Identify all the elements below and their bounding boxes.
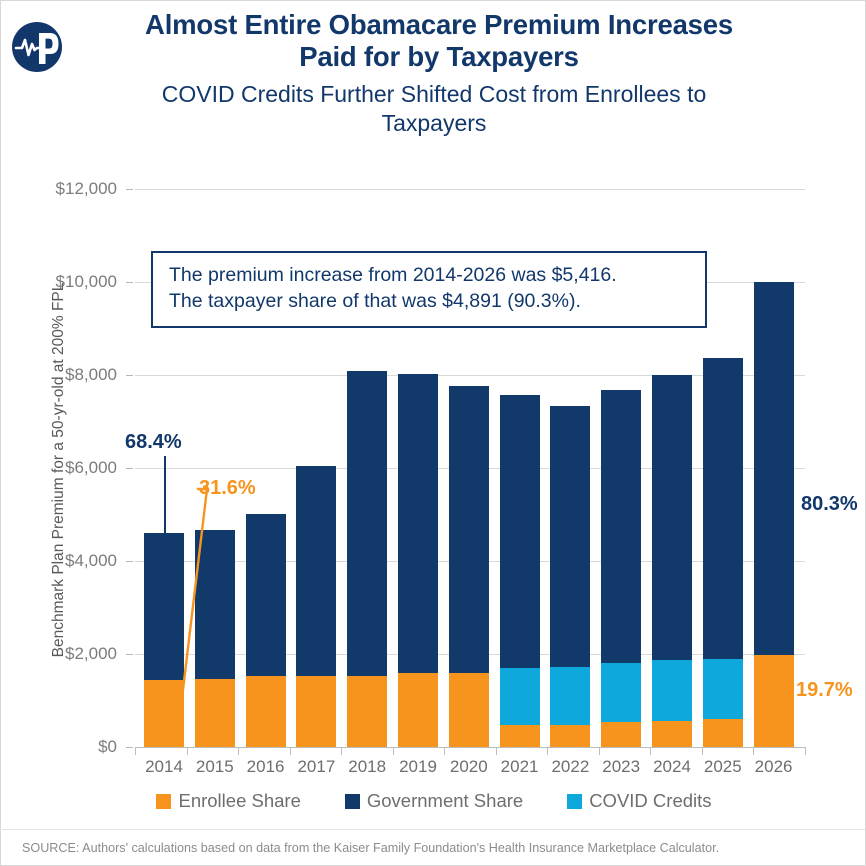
x-tick-mark xyxy=(805,747,806,755)
bar-segment-2026-enrollee-share[interactable] xyxy=(754,655,794,747)
chart-legend: Enrollee ShareGovernment ShareCOVID Cred… xyxy=(1,790,866,812)
bar-2016[interactable] xyxy=(246,514,286,747)
callout-line-1: The premium increase from 2014-2026 was … xyxy=(169,262,689,288)
bar-2017[interactable] xyxy=(296,466,336,747)
x-axis-label-2020: 2020 xyxy=(442,757,496,777)
legend-label: COVID Credits xyxy=(589,790,711,812)
bar-segment-2021-enrollee-share[interactable] xyxy=(500,725,540,747)
bar-segment-2025-covid-credits[interactable] xyxy=(703,659,743,719)
bar-segment-2019-enrollee-share[interactable] xyxy=(398,673,438,747)
callout-line-2: The taxpayer share of that was $4,891 (9… xyxy=(169,288,689,314)
bar-segment-2016-enrollee-share[interactable] xyxy=(246,676,286,747)
bar-segment-2021-government-share[interactable] xyxy=(500,395,540,668)
x-tick-mark xyxy=(496,747,497,755)
bar-segment-2023-covid-credits[interactable] xyxy=(601,663,641,722)
x-tick-mark xyxy=(650,747,651,755)
x-axis-label-2023: 2023 xyxy=(594,757,648,777)
legend-item-covid-credits[interactable]: COVID Credits xyxy=(567,790,711,812)
data-label-2014-enrollee-share: 31.6% xyxy=(199,477,256,500)
x-tick-mark xyxy=(290,747,291,755)
bar-2015[interactable] xyxy=(195,530,235,747)
x-tick-mark xyxy=(444,747,445,755)
x-axis-label-2014: 2014 xyxy=(137,757,191,777)
bar-segment-2020-enrollee-share[interactable] xyxy=(449,673,489,747)
source-footnote-bar: SOURCE: Authors' calculations based on d… xyxy=(2,829,866,866)
bar-segment-2015-government-share[interactable] xyxy=(195,530,235,678)
bar-segment-2023-government-share[interactable] xyxy=(601,390,641,663)
bar-segment-2025-enrollee-share[interactable] xyxy=(703,719,743,747)
bar-segment-2014-government-share[interactable] xyxy=(144,533,184,680)
x-axis-label-2019: 2019 xyxy=(391,757,445,777)
x-axis-label-2017: 2017 xyxy=(289,757,343,777)
legend-swatch-icon xyxy=(156,794,171,809)
x-tick-mark xyxy=(393,747,394,755)
annotation-callout-box: The premium increase from 2014-2026 was … xyxy=(151,251,707,328)
bar-segment-2019-government-share[interactable] xyxy=(398,374,438,673)
leader-line-2014-government xyxy=(164,456,166,534)
data-label-2026-enrollee-share: 19.7% xyxy=(796,679,853,702)
bar-2014[interactable] xyxy=(144,533,184,747)
bar-segment-2016-government-share[interactable] xyxy=(246,514,286,676)
x-axis-label-2018: 2018 xyxy=(340,757,394,777)
bar-segment-2024-government-share[interactable] xyxy=(652,375,692,661)
x-tick-mark xyxy=(702,747,703,755)
source-footnote-text: SOURCE: Authors' calculations based on d… xyxy=(2,841,719,855)
x-tick-mark xyxy=(753,747,754,755)
bar-segment-2018-enrollee-share[interactable] xyxy=(347,676,387,747)
bar-segment-2022-covid-credits[interactable] xyxy=(550,667,590,726)
legend-item-government-share[interactable]: Government Share xyxy=(345,790,523,812)
bar-segment-2020-government-share[interactable] xyxy=(449,386,489,672)
x-tick-mark xyxy=(547,747,548,755)
legend-label: Government Share xyxy=(367,790,523,812)
bar-segment-2026-government-share[interactable] xyxy=(754,282,794,655)
bar-2026[interactable] xyxy=(754,282,794,747)
x-axis-label-2022: 2022 xyxy=(543,757,597,777)
bar-segment-2017-enrollee-share[interactable] xyxy=(296,676,336,747)
bar-segment-2021-covid-credits[interactable] xyxy=(500,668,540,725)
bar-segment-2024-enrollee-share[interactable] xyxy=(652,721,692,747)
bar-2019[interactable] xyxy=(398,374,438,747)
bar-segment-2017-government-share[interactable] xyxy=(296,466,336,676)
x-tick-mark xyxy=(187,747,188,755)
chart-page: Almost Entire Obamacare Premium Increase… xyxy=(0,0,866,866)
bar-2023[interactable] xyxy=(601,390,641,747)
bar-2020[interactable] xyxy=(449,386,489,747)
x-axis-line xyxy=(135,747,805,748)
x-axis-label-2015: 2015 xyxy=(188,757,242,777)
legend-swatch-icon xyxy=(567,794,582,809)
bar-2021[interactable] xyxy=(500,395,540,747)
x-axis-label-2016: 2016 xyxy=(239,757,293,777)
bar-segment-2024-covid-credits[interactable] xyxy=(652,660,692,721)
bar-segment-2022-government-share[interactable] xyxy=(550,406,590,667)
bar-segment-2015-enrollee-share[interactable] xyxy=(195,679,235,747)
bar-2025[interactable] xyxy=(703,358,743,747)
x-axis-label-2021: 2021 xyxy=(493,757,547,777)
bar-2022[interactable] xyxy=(550,406,590,747)
x-axis-label-2026: 2026 xyxy=(747,757,801,777)
bar-segment-2023-enrollee-share[interactable] xyxy=(601,722,641,747)
legend-label: Enrollee Share xyxy=(178,790,300,812)
x-axis-label-2024: 2024 xyxy=(645,757,699,777)
data-label-2014-government-share: 68.4% xyxy=(125,431,182,454)
x-tick-mark xyxy=(238,747,239,755)
legend-item-enrollee-share[interactable]: Enrollee Share xyxy=(156,790,300,812)
x-tick-mark xyxy=(341,747,342,755)
bar-2018[interactable] xyxy=(347,371,387,747)
bar-segment-2022-enrollee-share[interactable] xyxy=(550,725,590,747)
legend-swatch-icon xyxy=(345,794,360,809)
x-tick-mark xyxy=(135,747,136,755)
bar-segment-2018-government-share[interactable] xyxy=(347,371,387,676)
x-axis-label-2025: 2025 xyxy=(696,757,750,777)
bar-segment-2025-government-share[interactable] xyxy=(703,358,743,659)
data-label-2026-government-share: 80.3% xyxy=(801,493,858,516)
x-tick-mark xyxy=(599,747,600,755)
bar-segment-2014-enrollee-share[interactable] xyxy=(144,680,184,747)
bar-2024[interactable] xyxy=(652,375,692,747)
